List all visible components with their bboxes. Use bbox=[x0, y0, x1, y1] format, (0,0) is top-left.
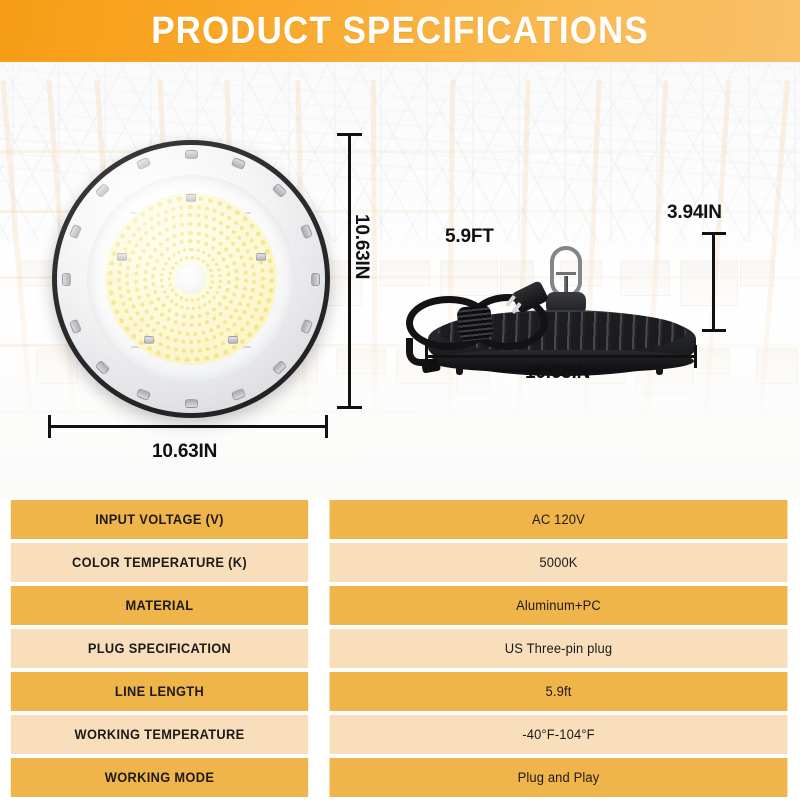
lamp-rim-screw bbox=[185, 150, 198, 159]
lamp-foot bbox=[656, 366, 663, 375]
table-row: LINE LENGTH5.9ft bbox=[3, 672, 797, 711]
dim-line-side-height bbox=[712, 232, 715, 332]
led-board-screw bbox=[186, 194, 196, 202]
dim-cap-front-width-left bbox=[48, 415, 51, 438]
lamp-rim-screw bbox=[271, 183, 287, 199]
spec-label-cell: WORKING MODE bbox=[11, 758, 308, 797]
spec-label-cell: WORKING TEMPERATURE bbox=[11, 715, 308, 754]
spec-value-cell: -40°F-104°F bbox=[330, 715, 788, 754]
ufo-high-bay-light-bottom-view bbox=[52, 140, 330, 418]
lamp-rim-screw bbox=[136, 157, 151, 170]
dim-label-side-height: 3.94IN bbox=[667, 202, 722, 224]
dim-cap-side-height-top bbox=[702, 232, 726, 235]
lamp-rim-screw bbox=[271, 359, 287, 375]
spec-label-cell: MATERIAL bbox=[11, 586, 308, 625]
cord-coil-tie bbox=[456, 304, 493, 341]
table-row: COLOR TEMPERATURE (K)5000K bbox=[3, 543, 797, 582]
led-chip-array bbox=[105, 193, 277, 365]
dim-label-side-width: 10.63IN bbox=[525, 362, 590, 384]
dim-label-front-width: 10.63IN bbox=[152, 441, 217, 463]
dim-cap-front-height-bottom bbox=[337, 406, 362, 409]
lamp-rim-screw bbox=[311, 273, 320, 286]
led-board-screw bbox=[256, 253, 266, 261]
specifications-table: INPUT VOLTAGE (V)AC 120VCOLOR TEMPERATUR… bbox=[3, 500, 797, 800]
led-board-screw bbox=[144, 336, 154, 344]
dim-cap-front-height-top bbox=[337, 133, 362, 136]
dim-line-side-width bbox=[425, 355, 697, 358]
spec-value-cell: AC 120V bbox=[330, 500, 788, 539]
lamp-rim-screw bbox=[95, 359, 111, 375]
lamp-rim-screw bbox=[231, 387, 246, 400]
led-board-screw bbox=[117, 253, 127, 261]
lamp-rim-screw bbox=[69, 319, 82, 334]
lamp-rim-screw bbox=[185, 399, 198, 408]
spec-value-cell: 5000K bbox=[330, 543, 788, 582]
dim-cap-side-width-right bbox=[694, 345, 697, 368]
led-board-screw bbox=[228, 336, 238, 344]
table-row: PLUG SPECIFICATIONUS Three-pin plug bbox=[3, 629, 797, 668]
dim-line-front-width bbox=[48, 425, 328, 428]
table-row: MATERIALAluminum+PC bbox=[3, 586, 797, 625]
spec-label-cell: COLOR TEMPERATURE (K) bbox=[11, 543, 308, 582]
spec-value-cell: 5.9ft bbox=[330, 672, 788, 711]
lamp-rim-screw bbox=[299, 224, 312, 239]
lamp-rim-screw bbox=[299, 319, 312, 334]
spec-label-cell: PLUG SPECIFICATION bbox=[11, 629, 308, 668]
lamp-rim-screw bbox=[69, 224, 82, 239]
spec-label-cell: INPUT VOLTAGE (V) bbox=[11, 500, 308, 539]
table-row: WORKING TEMPERATURE-40°F-104°F bbox=[3, 715, 797, 754]
spec-value-cell: Plug and Play bbox=[330, 758, 788, 797]
dim-label-cord-length: 5.9FT bbox=[445, 226, 494, 248]
spec-label-cell: LINE LENGTH bbox=[11, 672, 308, 711]
spec-value-cell: US Three-pin plug bbox=[330, 629, 788, 668]
lamp-rim-screw bbox=[95, 183, 111, 199]
dim-cap-front-width-right bbox=[325, 415, 328, 438]
dim-cap-side-width-left bbox=[425, 345, 428, 368]
table-row: WORKING MODEPlug and Play bbox=[3, 758, 797, 797]
table-row: INPUT VOLTAGE (V)AC 120V bbox=[3, 500, 797, 539]
hero-product-image: 10.63IN 10.63IN 3.94IN 10.63IN 5.9FT bbox=[0, 62, 800, 500]
lamp-rim-screw bbox=[62, 273, 71, 286]
header-banner: PRODUCT SPECIFICATIONS bbox=[0, 0, 800, 62]
page-title: PRODUCT SPECIFICATIONS bbox=[32, 12, 768, 50]
dim-label-front-height: 10.63IN bbox=[350, 214, 372, 279]
product-specifications-page: PRODUCT SPECIFICATIONS bbox=[0, 0, 800, 800]
lamp-rim-screw bbox=[231, 157, 246, 170]
lamp-rim-screw bbox=[136, 387, 151, 400]
dim-cap-side-height-bottom bbox=[702, 329, 726, 332]
spec-value-cell: Aluminum+PC bbox=[330, 586, 788, 625]
